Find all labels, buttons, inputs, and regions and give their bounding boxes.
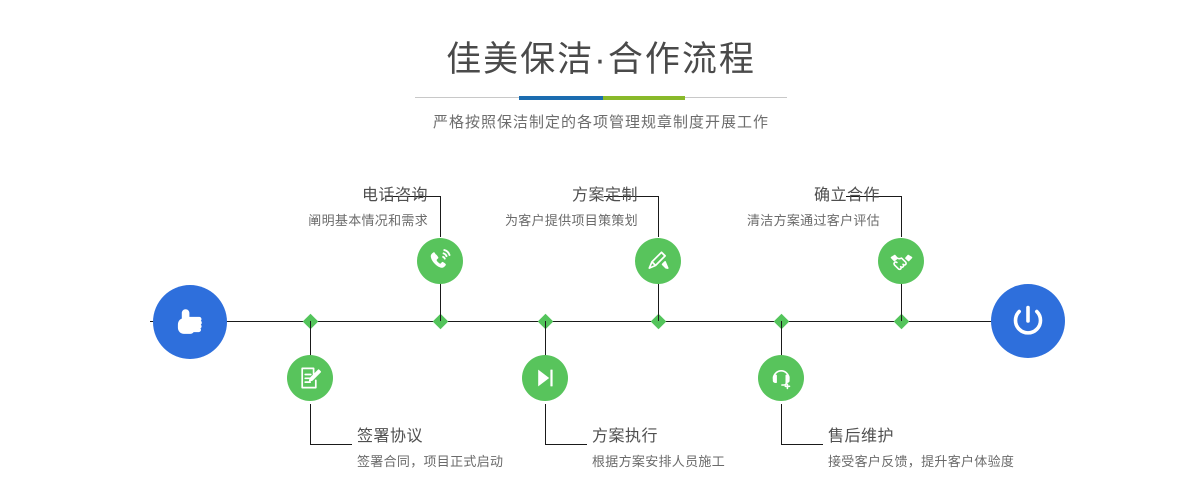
flow-step-desc-3: 为客户提供项目策策划 xyxy=(458,211,638,230)
flow-step-desc-2: 签署合同，项目正式启动 xyxy=(357,452,587,471)
flow-step-node-2[interactable] xyxy=(287,355,333,401)
connector-stem-6 xyxy=(781,321,782,358)
flow-step-label-1: 电话咨询 阐明基本情况和需求 xyxy=(248,186,428,230)
connector-vertical-1 xyxy=(440,196,441,237)
flow-step-label-2: 签署协议 签署合同，项目正式启动 xyxy=(357,427,587,471)
flow-step-node-5[interactable] xyxy=(878,238,924,284)
connector-stem-4 xyxy=(545,321,546,358)
connector-vertical-5 xyxy=(901,196,902,237)
flow-step-label-4: 方案执行 根据方案安排人员施工 xyxy=(592,427,822,471)
connector-vertical-3 xyxy=(658,196,659,237)
connector-horizontal-6 xyxy=(781,444,823,445)
flow-step-node-4[interactable] xyxy=(522,355,568,401)
customer-service-add-icon xyxy=(768,365,794,391)
pointing-hand-icon xyxy=(170,302,210,342)
connector-horizontal-4 xyxy=(545,444,587,445)
flow-step-desc-1: 阐明基本情况和需求 xyxy=(248,211,428,230)
connector-stem-2 xyxy=(310,321,311,358)
flow-step-label-6: 售后维护 接受客户反馈，提升客户体验度 xyxy=(828,427,1078,471)
power-icon xyxy=(1007,300,1049,342)
phone-call-icon xyxy=(426,247,454,275)
flow-step-node-1[interactable] xyxy=(417,238,463,284)
connector-vertical-6 xyxy=(781,404,782,445)
connector-stem-1 xyxy=(440,283,441,321)
handshake-icon xyxy=(888,248,915,275)
process-flow-diagram: 电话咨询 阐明基本情况和需求 方案定制 为客户提供项目策策划 xyxy=(0,0,1202,502)
pencil-ruler-icon xyxy=(645,248,672,275)
flow-step-label-3: 方案定制 为客户提供项目策策划 xyxy=(458,186,638,230)
flow-step-desc-5: 清洁方案通过客户评估 xyxy=(700,211,880,230)
flow-step-title-3: 方案定制 xyxy=(458,186,638,206)
connector-stem-3 xyxy=(658,283,659,321)
flow-finish-node[interactable] xyxy=(991,284,1065,358)
flow-step-node-3[interactable] xyxy=(635,238,681,284)
flow-step-label-5: 确立合作 清洁方案通过客户评估 xyxy=(700,186,880,230)
flow-step-title-5: 确立合作 xyxy=(700,186,880,206)
timeline-axis xyxy=(150,321,1054,322)
flow-start-node[interactable] xyxy=(153,285,227,359)
flow-step-node-6[interactable] xyxy=(758,355,804,401)
connector-vertical-4 xyxy=(545,404,546,445)
flow-step-desc-4: 根据方案安排人员施工 xyxy=(592,452,822,471)
flow-step-title-1: 电话咨询 xyxy=(248,186,428,206)
flow-step-desc-6: 接受客户反馈，提升客户体验度 xyxy=(828,452,1078,471)
connector-stem-5 xyxy=(901,283,902,321)
play-forward-icon xyxy=(532,365,558,391)
document-sign-icon xyxy=(297,365,323,391)
connector-horizontal-2 xyxy=(310,444,352,445)
flow-step-title-6: 售后维护 xyxy=(828,427,1078,447)
connector-vertical-2 xyxy=(310,404,311,445)
